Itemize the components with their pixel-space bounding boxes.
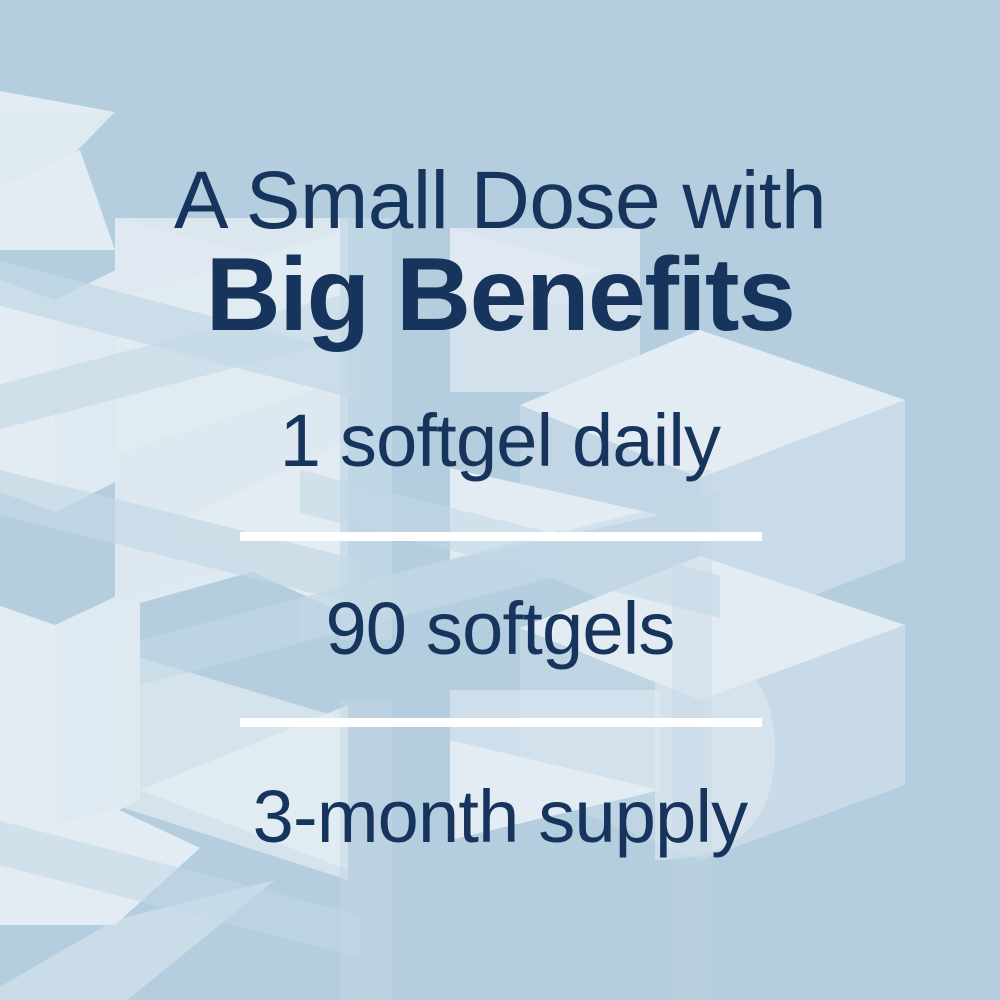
fact-dosage: 1 softgel daily (0, 404, 1000, 478)
divider-above-90-softgels (240, 532, 762, 541)
headline-line-1: A Small Dose with (0, 160, 1000, 242)
poster-content: A Small Dose with Big Benefits 1 softgel… (0, 0, 1000, 1000)
fact-count: 90 softgels (0, 592, 1000, 666)
product-benefits-poster: A Small Dose with Big Benefits 1 softgel… (0, 0, 1000, 1000)
fact-supply-duration: 3-month supply (0, 780, 1000, 854)
headline-line-2: Big Benefits (0, 243, 1000, 347)
divider-above-3-month-supply (240, 718, 762, 727)
